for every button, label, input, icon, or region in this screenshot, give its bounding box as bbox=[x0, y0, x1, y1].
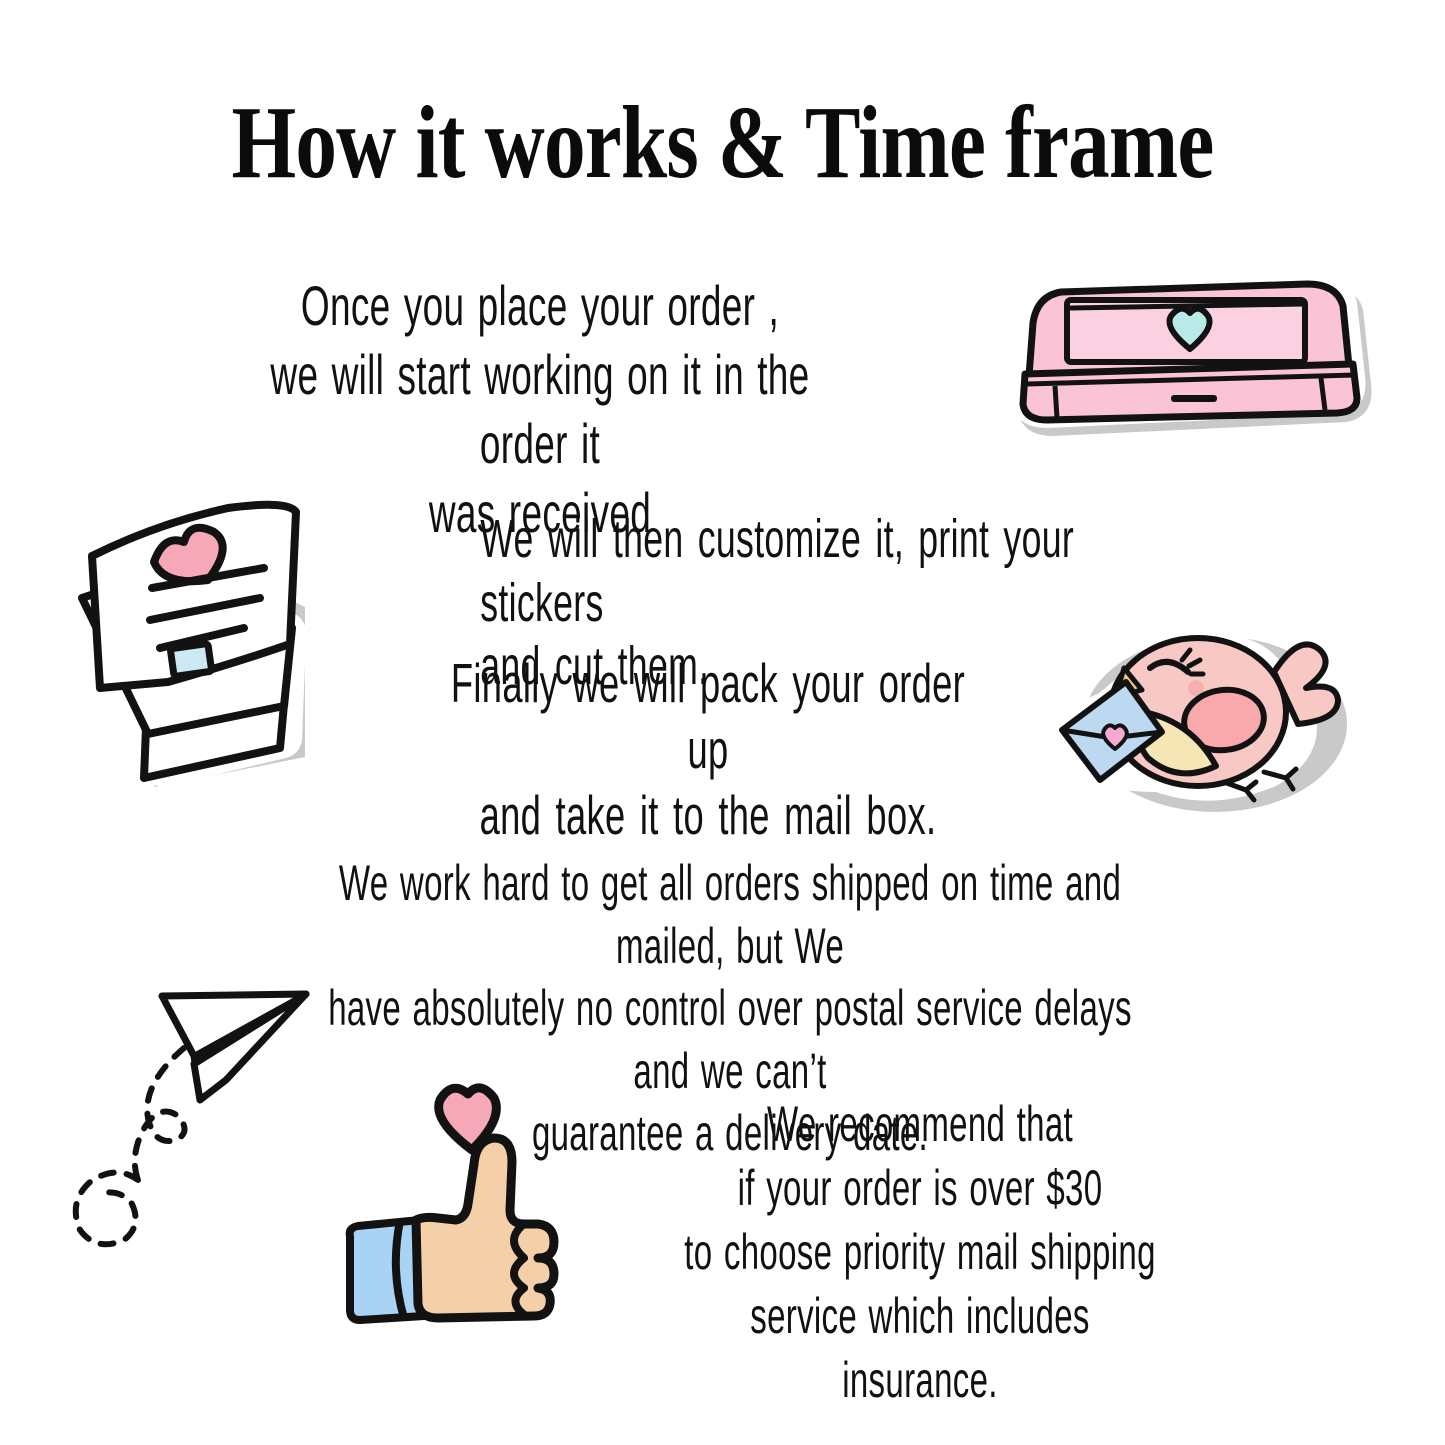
step-text-pack-mail: Finally we will pack your order up and t… bbox=[437, 650, 978, 848]
thumbs-up-icon bbox=[328, 1078, 583, 1333]
cutting-machine-icon bbox=[985, 268, 1375, 443]
paper-airplane-icon bbox=[58, 968, 353, 1253]
notice-text-priority-recommendation: We recommend that if your order is over … bbox=[682, 1092, 1157, 1412]
page-title: How it works & Time frame bbox=[145, 88, 1301, 197]
mail-bird-icon bbox=[1038, 616, 1353, 821]
infographic-canvas: How it works & Time frame Once you place… bbox=[0, 0, 1445, 1445]
order-papers-icon bbox=[52, 448, 347, 803]
